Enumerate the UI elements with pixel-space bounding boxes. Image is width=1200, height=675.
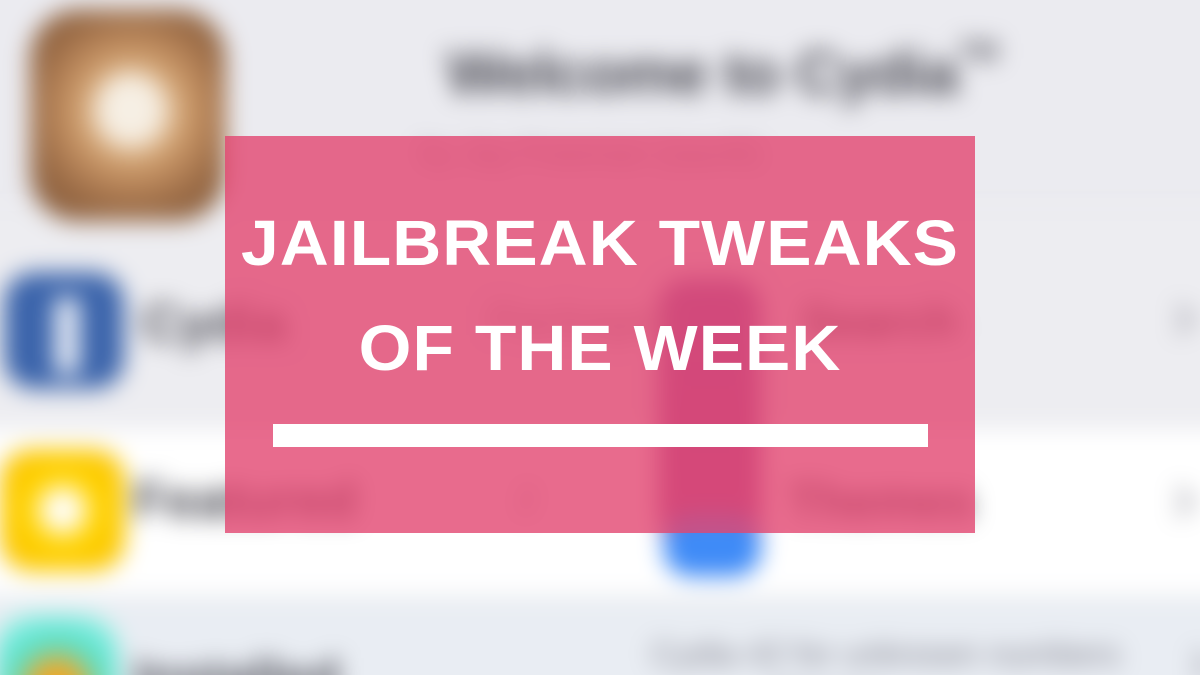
list-item-label[interactable]: Installed bbox=[134, 650, 340, 675]
overlay-title-line-2: OF THE WEEK bbox=[203, 316, 998, 380]
page-title: Welcome to Cydia bbox=[446, 38, 957, 109]
title-overlay-card: JAILBREAK TWEAKS OF THE WEEK bbox=[225, 136, 975, 533]
cydia-app-icon bbox=[30, 9, 226, 221]
facebook-icon[interactable] bbox=[4, 272, 124, 389]
screenshot-stage: Welcome to Cydia TM by Jay Freeman (saur… bbox=[0, 0, 1200, 675]
overlay-underline-rule bbox=[273, 424, 928, 447]
installed-icon[interactable] bbox=[0, 616, 118, 675]
list-item-note: Cydia 42 for unknown numbers bbox=[651, 635, 1120, 674]
overlay-title-line-1: JAILBREAK TWEAKS bbox=[203, 211, 998, 275]
featured-star-icon[interactable] bbox=[0, 449, 125, 571]
row-divider bbox=[0, 597, 1200, 598]
trademark-mark: TM bbox=[958, 35, 998, 68]
